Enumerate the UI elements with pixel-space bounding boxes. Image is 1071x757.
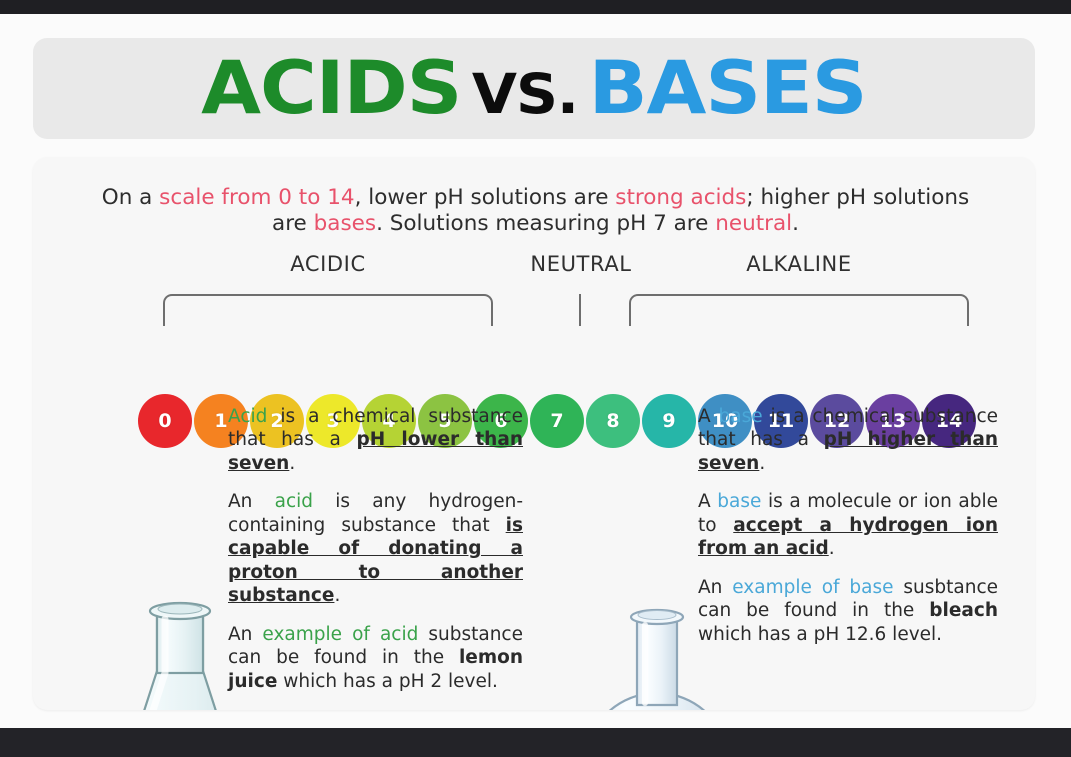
intro-highlight-strong-acids: strong acids: [615, 185, 746, 210]
ph-band-labels: ACIDIC NEUTRAL ALKALINE: [33, 252, 1035, 282]
base-text-column: A base is a chemical substance that has …: [698, 405, 998, 646]
erlenmeyer-flask-image: [95, 575, 265, 710]
infographic-stage: ACIDSVS.BASES On a scale from 0 to 14, l…: [0, 0, 1071, 757]
title-bases: BASES: [589, 46, 867, 131]
acid-p3-t2: which has a pH 2 level.: [277, 671, 498, 692]
intro-seg-5: .: [792, 211, 799, 236]
bracket-alkaline: [629, 294, 969, 326]
intro-highlight-neutral: neutral: [715, 211, 792, 236]
ph-band-brackets: [33, 282, 1035, 332]
acid-kw-1: Acid: [228, 406, 267, 427]
acid-paragraph-2: An acid is any hydrogen-containing subst…: [228, 490, 523, 607]
round-bottom-flask-icon: [573, 575, 741, 710]
page-title: ACIDSVS.BASES: [201, 52, 866, 125]
base-kw-2: base: [717, 491, 761, 512]
base-paragraph-3: An example of base susbtance can be foun…: [698, 576, 998, 646]
base-p2-t2: .: [829, 538, 835, 559]
erlenmeyer-flask-icon: [95, 575, 265, 710]
acid-paragraph-3: An example of acid substance can be foun…: [228, 623, 523, 693]
acid-kw-2: acid: [275, 491, 313, 512]
tick-neutral: [579, 294, 581, 326]
base-p3-bold: bleach: [929, 600, 998, 621]
ph-circle-8: 8: [586, 394, 640, 448]
base-p1-t0: A: [698, 406, 719, 427]
base-kw-1: base: [719, 406, 763, 427]
bracket-acidic: [163, 294, 493, 326]
base-kw-3: example of base: [732, 577, 893, 598]
title-card: ACIDSVS.BASES: [33, 38, 1035, 139]
intro-seg-1: On a: [102, 185, 159, 210]
ph-circle-9: 9: [642, 394, 696, 448]
ph-circle-7: 7: [530, 394, 584, 448]
intro-seg-4: . Solutions measuring pH 7 are: [376, 211, 715, 236]
letterbox-bar-bottom: [0, 728, 1071, 757]
intro-highlight-bases: bases: [314, 211, 376, 236]
acid-p2-t2: .: [334, 585, 340, 606]
acid-text-column: Acid is a chemical substance that has a …: [228, 405, 523, 693]
intro-highlight-scale: scale from 0 to 14: [159, 185, 354, 210]
base-paragraph-1: A base is a chemical substance that has …: [698, 405, 998, 475]
ph-scale: ACIDIC NEUTRAL ALKALINE 0123456789101112…: [33, 252, 1035, 332]
title-vs: VS.: [461, 62, 588, 126]
base-paragraph-2: A base is a molecule or ion able to acce…: [698, 490, 998, 560]
intro-paragraph: On a scale from 0 to 14, lower pH soluti…: [83, 185, 988, 237]
base-p2-underline: accept a hydrogen ion from an acid: [698, 515, 998, 559]
round-bottom-flask-image: [573, 575, 741, 710]
acid-kw-3: example of acid: [262, 624, 418, 645]
main-content-card: On a scale from 0 to 14, lower pH soluti…: [33, 157, 1035, 710]
acid-p1-t2: .: [289, 453, 295, 474]
ph-circle-0: 0: [138, 394, 192, 448]
acid-paragraph-1: Acid is a chemical substance that has a …: [228, 405, 523, 475]
letterbox-bar-top: [0, 0, 1071, 14]
base-p1-t2: .: [759, 453, 765, 474]
intro-seg-2: , lower pH solutions are: [355, 185, 616, 210]
band-label-alkaline: ALKALINE: [629, 252, 969, 276]
acid-p2-t0: An: [228, 491, 275, 512]
base-p2-t0: A: [698, 491, 717, 512]
title-acids: ACIDS: [201, 46, 461, 131]
